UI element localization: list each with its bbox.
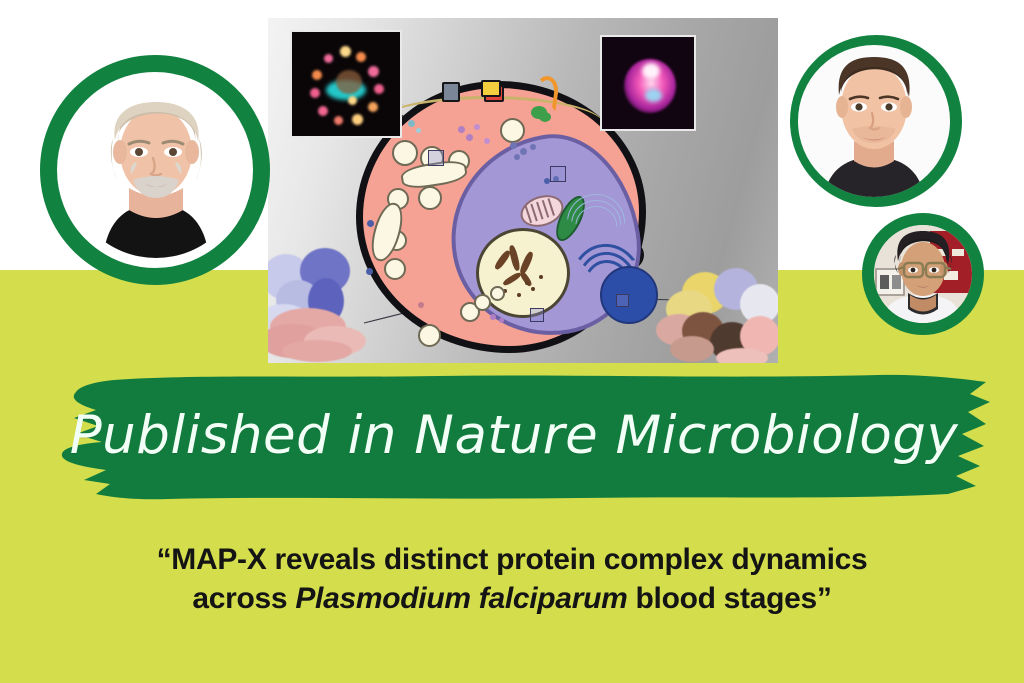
avatar xyxy=(798,45,950,197)
complex-marker-lower xyxy=(530,308,544,322)
protein-structure-bottom-left xyxy=(268,246,388,363)
microscopy-inset-top-right xyxy=(600,35,696,131)
page-title: “MAP-X reveals distinct protein complex … xyxy=(52,540,972,618)
host-vesicle-11 xyxy=(474,294,491,311)
complex-marker-host xyxy=(428,150,444,166)
species-name: Plasmodium falciparum xyxy=(295,582,627,615)
headline-line-2-prefix: across xyxy=(192,582,295,615)
host-vesicle-8 xyxy=(418,324,441,347)
headline-line-2-suffix: blood stages” xyxy=(627,582,831,615)
host-vesicle-12 xyxy=(490,286,505,301)
avatar xyxy=(874,225,972,323)
published-banner: Published in Nature Microbiology xyxy=(18,372,1010,504)
protein-dot-4 xyxy=(466,134,473,141)
promo-graphic: Published in Nature Microbiology “MAP-X … xyxy=(0,0,1024,683)
portrait-illustration-3 xyxy=(874,225,972,323)
host-vesicle-5 xyxy=(418,186,442,210)
host-vesicle-9 xyxy=(500,118,525,143)
graphical-abstract xyxy=(268,18,778,363)
portrait-researcher-1 xyxy=(40,55,270,285)
protein-dot-3 xyxy=(458,126,465,133)
portrait-illustration-1 xyxy=(67,80,245,258)
protein-dot-13 xyxy=(367,220,374,227)
protein-dot-9 xyxy=(514,154,520,160)
protein-cluster-green-2-icon xyxy=(539,112,551,122)
protein-dot-1 xyxy=(408,120,415,127)
protein-dot-17 xyxy=(499,318,504,323)
host-vesicle-1 xyxy=(392,140,418,166)
portrait-researcher-2 xyxy=(790,35,962,207)
membrane-channel-icon xyxy=(442,82,460,102)
food-vacuole xyxy=(600,266,658,324)
complex-marker-fv xyxy=(616,294,629,307)
protein-dot-6 xyxy=(484,138,490,144)
microscopy-inset-top-left xyxy=(290,30,402,138)
banner-text: Published in Nature Microbiology xyxy=(18,372,1010,504)
avatar xyxy=(67,80,245,258)
headline-line-1: “MAP-X reveals distinct protein complex … xyxy=(157,543,868,576)
protein-dot-2 xyxy=(416,128,421,133)
protein-dot-15 xyxy=(418,302,424,308)
complex-marker-parasite xyxy=(550,166,566,182)
protein-structure-bottom-right xyxy=(656,266,778,363)
membrane-protein-yellow-2-icon xyxy=(481,80,501,97)
protein-dot-5 xyxy=(474,124,480,130)
protein-dot-16 xyxy=(490,314,496,320)
portrait-researcher-3 xyxy=(862,213,984,335)
portrait-illustration-2 xyxy=(798,45,950,197)
protein-dot-7 xyxy=(510,142,517,149)
protein-dot-8 xyxy=(520,148,527,155)
headline-line-2: across Plasmodium falciparum blood stage… xyxy=(52,579,972,618)
protein-dot-10 xyxy=(530,144,536,150)
